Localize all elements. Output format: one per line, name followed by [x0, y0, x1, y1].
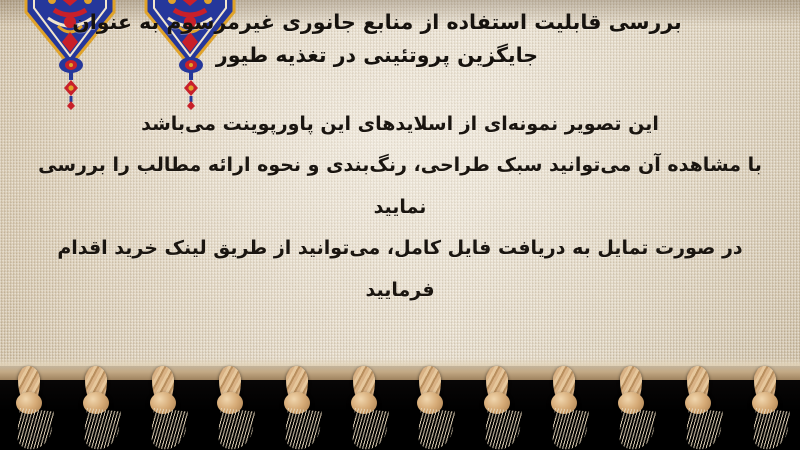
- fringe-tassel: [274, 364, 326, 444]
- slide-title: بررسی قابلیت استفاده از منابع جانوری غیر…: [44, 6, 764, 72]
- fringe-tassel: [742, 364, 794, 444]
- fringe-tassel: [140, 364, 192, 444]
- fringe-tassel: [541, 364, 593, 444]
- fringe-tassel: [608, 364, 660, 444]
- slide-body: این تصویر نمونه‌ای از اسلایدهای این پاور…: [20, 104, 780, 311]
- carpet-fringe-tassels: [0, 364, 800, 450]
- fringe-tassel: [6, 364, 58, 444]
- fringe-tassel: [474, 364, 526, 444]
- fringe-tassel: [675, 364, 727, 444]
- title-line-2: جایگزین پروتئینی در تغذیه طیور: [44, 39, 764, 72]
- title-line-1: بررسی قابلیت استفاده از منابع جانوری غیر…: [44, 6, 764, 39]
- body-line-2: با مشاهده آن می‌توانید سبک طراحی، رنگ‌بن…: [20, 145, 780, 228]
- slide-canvas: بررسی قابلیت استفاده از منابع جانوری غیر…: [0, 0, 800, 450]
- body-line-3: در صورت تمایل به دریافت فایل کامل، می‌تو…: [20, 228, 780, 311]
- fringe-tassel: [207, 364, 259, 444]
- fringe-tassel: [407, 364, 459, 444]
- fringe-tassel: [73, 364, 125, 444]
- fringe-tassel: [341, 364, 393, 444]
- body-line-1: این تصویر نمونه‌ای از اسلایدهای این پاور…: [20, 104, 780, 145]
- slide-text-layer: بررسی قابلیت استفاده از منابع جانوری غیر…: [0, 0, 800, 372]
